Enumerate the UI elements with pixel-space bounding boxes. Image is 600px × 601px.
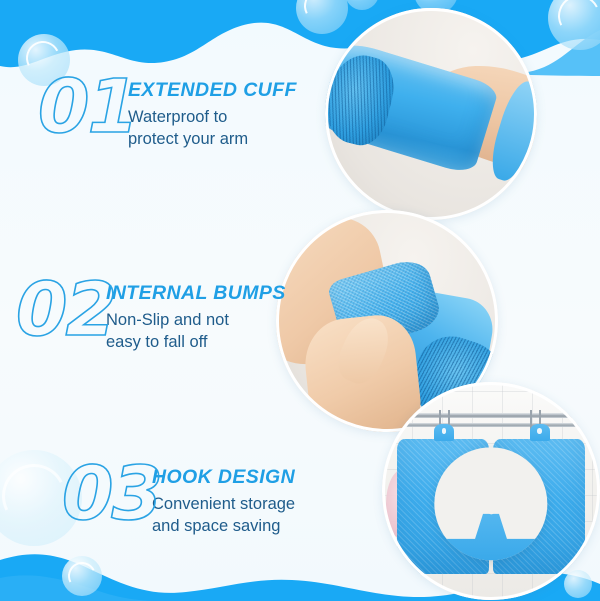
product-photo-extended-cuff [325, 8, 537, 220]
feature-number-01-text: 01 [38, 64, 137, 150]
feature-item-02: 02 INTERNAL BUMPS Non-Slip and not easy … [14, 281, 286, 353]
bubble-top-right-a-icon [548, 0, 600, 50]
feature-item-03: 03 HOOK DESIGN Convenient storage and sp… [60, 465, 295, 537]
feature-number-03: 03 [60, 451, 152, 537]
feature-number-01: 01 [36, 64, 128, 150]
bubble-bottom-left-icon [62, 556, 102, 596]
hook-closeup-inset [434, 447, 547, 560]
product-feature-infographic: beeman beauty 01 EXTENDED CUFF Waterproo… [0, 0, 600, 601]
product-photo-hook-design: beeman beauty [382, 382, 600, 600]
bottom-wave-secondary [0, 575, 200, 601]
feature-description-02: Non-Slip and not easy to fall off [106, 310, 286, 352]
feature-title-02: INTERNAL BUMPS [106, 283, 286, 304]
feature-description-03: Convenient storage and space saving [152, 494, 295, 536]
feature-item-01: 01 EXTENDED CUFF Waterproof to protect y… [36, 78, 297, 150]
feature-number-03-text: 03 [62, 451, 161, 537]
feature-number-02-text: 02 [16, 267, 115, 353]
feature-number-02: 02 [14, 267, 106, 353]
feature-description-01: Waterproof to protect your arm [128, 107, 297, 149]
feature-title-01: EXTENDED CUFF [128, 80, 297, 101]
feature-title-03: HOOK DESIGN [152, 467, 295, 488]
